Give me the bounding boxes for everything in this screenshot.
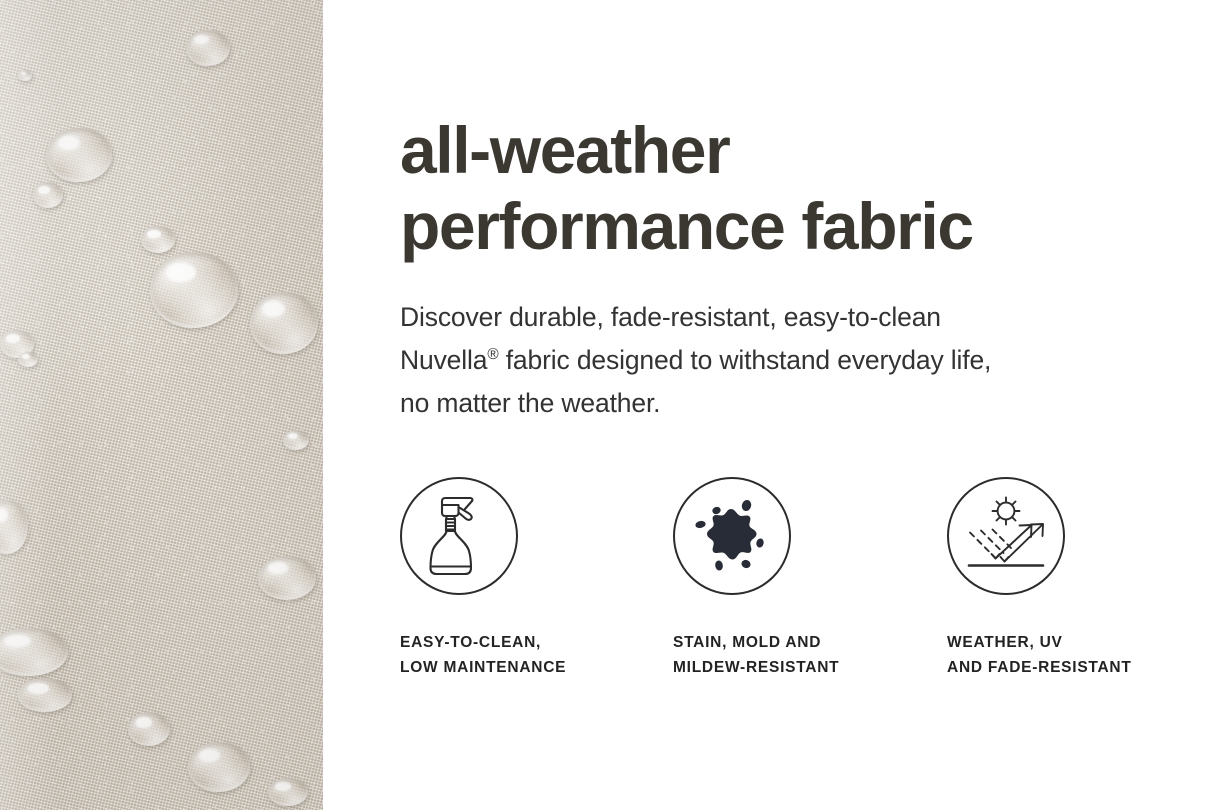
brand-name: Nuvella bbox=[400, 345, 487, 375]
feature-caption-line-2: LOW MAINTENANCE bbox=[400, 655, 660, 680]
subcopy-line-1: Discover durable, fade-resistant, easy-t… bbox=[400, 296, 1160, 339]
feature-caption-line-2: MILDEW-RESISTANT bbox=[673, 655, 933, 680]
sun-uv-reflect-icon bbox=[947, 477, 1065, 595]
subcopy-line-3: no matter the weather. bbox=[400, 382, 1160, 425]
feature-easy-to-clean: EASY-TO-CLEAN, LOW MAINTENANCE bbox=[400, 477, 660, 680]
feature-caption: STAIN, MOLD AND MILDEW-RESISTANT bbox=[673, 595, 933, 680]
stain-splat-icon bbox=[673, 477, 791, 595]
headline-line-1: all-weather bbox=[400, 112, 1190, 188]
feature-stain-resistant: STAIN, MOLD AND MILDEW-RESISTANT bbox=[673, 477, 933, 680]
spray-bottle-icon bbox=[400, 477, 518, 595]
feature-caption-line-1: WEATHER, UV bbox=[947, 630, 1207, 655]
fabric-photo-panel bbox=[0, 0, 323, 810]
headline-line-2: performance fabric bbox=[400, 188, 1190, 264]
feature-caption: WEATHER, UV AND FADE-RESISTANT bbox=[947, 595, 1207, 680]
registered-trademark-icon: ® bbox=[487, 346, 498, 363]
feature-caption-line-1: STAIN, MOLD AND bbox=[673, 630, 933, 655]
subcopy-line-2-rest: fabric designed to withstand everyday li… bbox=[499, 345, 992, 375]
feature-caption-line-1: EASY-TO-CLEAN, bbox=[400, 630, 660, 655]
feature-caption-line-2: AND FADE-RESISTANT bbox=[947, 655, 1207, 680]
feature-caption: EASY-TO-CLEAN, LOW MAINTENANCE bbox=[400, 595, 660, 680]
subcopy: Discover durable, fade-resistant, easy-t… bbox=[400, 296, 1160, 425]
promo-banner: all-weather performance fabric Discover … bbox=[0, 0, 1214, 810]
promo-content: all-weather performance fabric Discover … bbox=[400, 0, 1200, 810]
subcopy-line-2: Nuvella® fabric designed to withstand ev… bbox=[400, 339, 1160, 382]
feature-list: EASY-TO-CLEAN, LOW MAINTENANCE bbox=[400, 477, 1200, 687]
feature-weather-uv-resistant: WEATHER, UV AND FADE-RESISTANT bbox=[947, 477, 1207, 680]
page-title: all-weather performance fabric bbox=[400, 112, 1190, 264]
photo-vignette bbox=[0, 0, 323, 810]
